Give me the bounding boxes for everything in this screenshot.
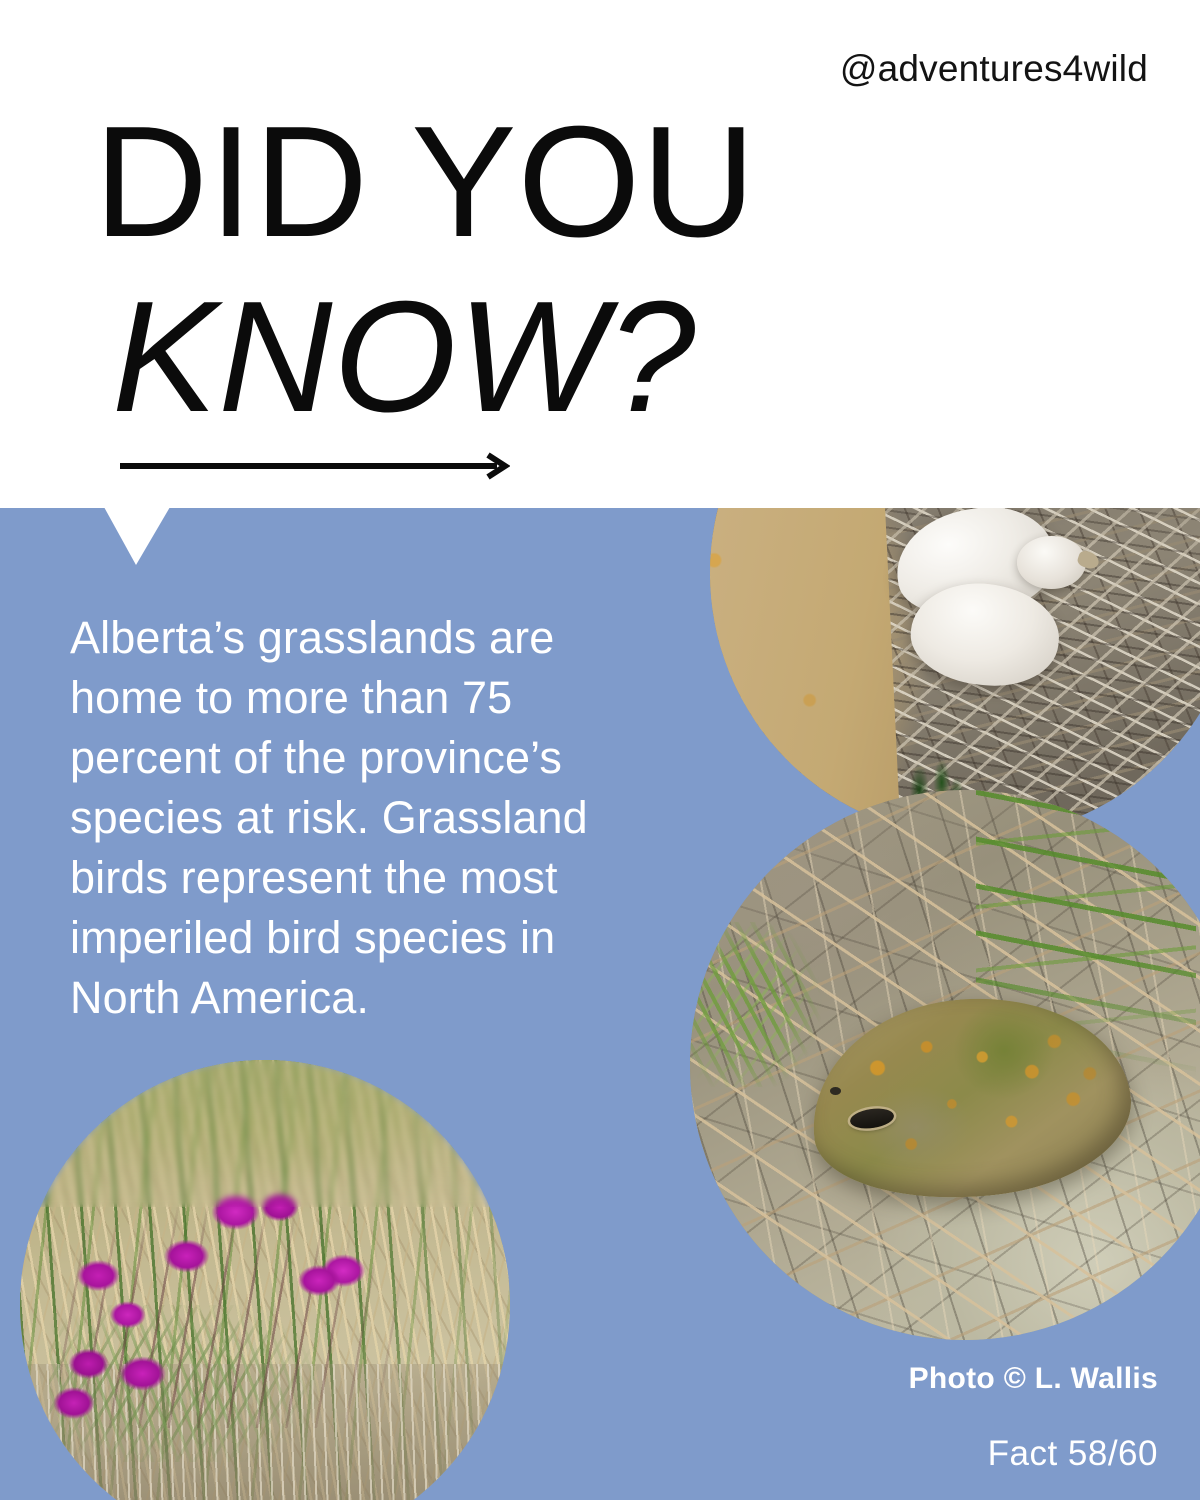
chick-three-head — [1017, 536, 1086, 589]
toad-photo — [690, 790, 1200, 1340]
speech-bubble-tail — [104, 507, 170, 565]
headline-line-two: KNOW? — [112, 278, 696, 436]
arrow-right-icon — [120, 452, 510, 480]
account-handle: @adventures4wild — [840, 48, 1148, 90]
toad-moss-patch — [690, 922, 822, 1087]
headline-line-one: DID YOU — [94, 103, 757, 261]
locoweed-flowers-photo — [20, 1060, 510, 1500]
photo-credit: Photo © L. Wallis — [909, 1362, 1158, 1396]
fact-counter: Fact 58/60 — [988, 1434, 1158, 1474]
fact-body-text: Alberta’s grasslands are home to more th… — [70, 608, 640, 1028]
toad-nostril — [830, 1087, 841, 1095]
infographic-poster: @adventures4wild DID YOU KNOW? Alberta’s… — [0, 0, 1200, 1500]
prairie-depth-blur — [20, 1060, 510, 1207]
